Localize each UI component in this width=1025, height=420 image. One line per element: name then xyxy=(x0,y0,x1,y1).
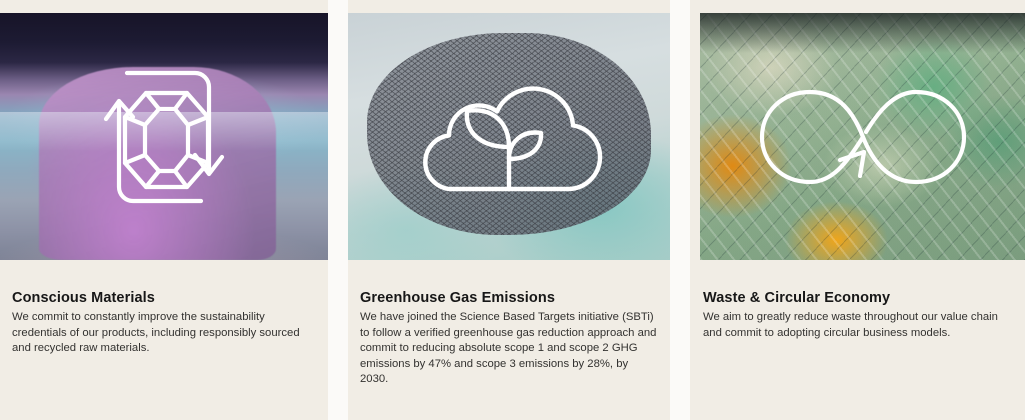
card-body: We commit to constantly improve the sust… xyxy=(12,310,310,357)
card-waste-circular-economy[interactable]: Waste & Circular Economy We aim to great… xyxy=(690,0,1025,420)
card-text-block: Waste & Circular Economy We aim to great… xyxy=(690,260,1025,341)
card-media xyxy=(700,13,1025,260)
card-body: We have joined the Science Based Targets… xyxy=(360,310,658,388)
card-media xyxy=(0,13,328,260)
card-body: We aim to greatly reduce waste throughou… xyxy=(703,310,1001,341)
column-gutter xyxy=(328,0,348,420)
card-conscious-materials[interactable]: Conscious Materials We commit to constan… xyxy=(0,0,328,420)
cloud-sprout-icon xyxy=(348,13,670,260)
card-title: Greenhouse Gas Emissions xyxy=(360,290,658,306)
card-title: Conscious Materials xyxy=(12,290,316,306)
gem-recycle-loop-icon xyxy=(0,13,328,260)
card-greenhouse-gas-emissions[interactable]: Greenhouse Gas Emissions We have joined … xyxy=(348,0,670,420)
card-media xyxy=(348,13,670,260)
card-text-block: Conscious Materials We commit to constan… xyxy=(0,260,328,357)
card-title: Waste & Circular Economy xyxy=(703,290,1013,306)
card-text-block: Greenhouse Gas Emissions We have joined … xyxy=(348,260,670,388)
sustainability-cards-row: Conscious Materials We commit to constan… xyxy=(0,0,1025,420)
column-gutter xyxy=(670,0,690,420)
infinity-arrow-icon xyxy=(700,13,1025,260)
